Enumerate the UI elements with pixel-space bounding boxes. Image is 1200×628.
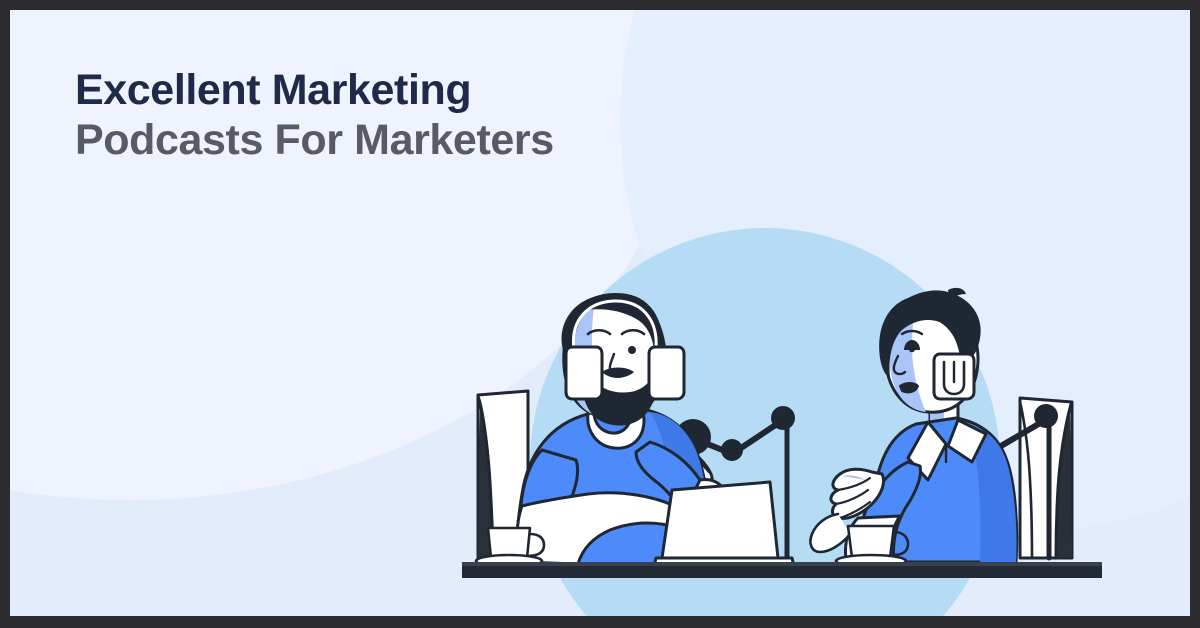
headline-line-1: Excellent Marketing bbox=[75, 66, 554, 116]
desk bbox=[462, 562, 1102, 578]
banner-canvas: Excellent Marketing Podcasts For Markete… bbox=[10, 10, 1190, 616]
laptop bbox=[654, 482, 794, 566]
headline: Excellent Marketing Podcasts For Markete… bbox=[75, 66, 554, 166]
headline-line-2: Podcasts For Marketers bbox=[75, 116, 554, 166]
podcast-banner: Excellent Marketing Podcasts For Markete… bbox=[0, 0, 1200, 628]
right-person bbox=[810, 288, 1016, 562]
